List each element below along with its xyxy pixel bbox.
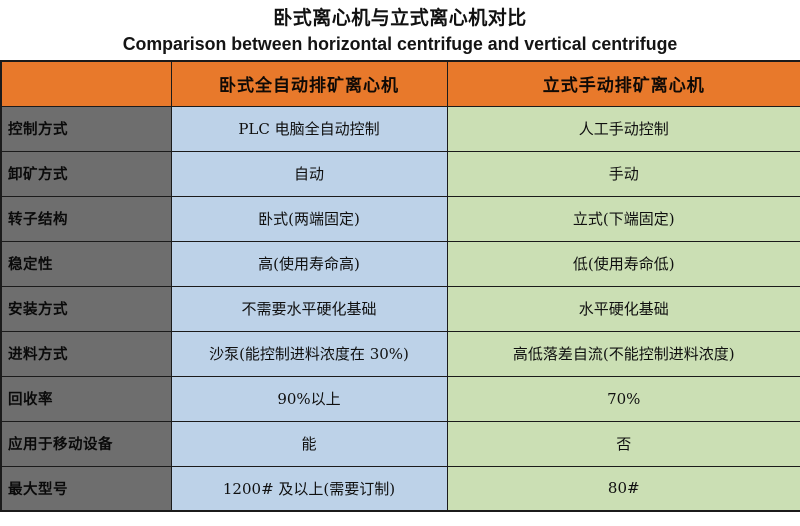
- cell-vertical-centrifuge: 80#: [447, 466, 800, 511]
- cell-vertical-centrifuge: 手动: [447, 151, 800, 196]
- cell-horizontal-centrifuge: 90%以上: [171, 376, 447, 421]
- cell-vertical-centrifuge: 低(使用寿命低): [447, 241, 800, 286]
- table-header: 卧式全自动排矿离心机 立式手动排矿离心机: [1, 61, 800, 106]
- cell-horizontal-centrifuge: 沙泵(能控制进料浓度在 30%): [171, 331, 447, 376]
- header-cell-vertical: 立式手动排矿离心机: [447, 61, 800, 106]
- row-label: 控制方式: [1, 106, 171, 151]
- table-row: 转子结构卧式(两端固定)立式(下端固定): [1, 196, 800, 241]
- table-row: 进料方式沙泵(能控制进料浓度在 30%)高低落差自流(不能控制进料浓度): [1, 331, 800, 376]
- cell-vertical-centrifuge: 立式(下端固定): [447, 196, 800, 241]
- cell-vertical-centrifuge: 水平硬化基础: [447, 286, 800, 331]
- row-label: 最大型号: [1, 466, 171, 511]
- table-row: 控制方式PLC 电脑全自动控制人工手动控制: [1, 106, 800, 151]
- cell-horizontal-centrifuge: PLC 电脑全自动控制: [171, 106, 447, 151]
- cell-horizontal-centrifuge: 能: [171, 421, 447, 466]
- table-row: 稳定性高(使用寿命高)低(使用寿命低): [1, 241, 800, 286]
- cell-vertical-centrifuge: 70%: [447, 376, 800, 421]
- row-label: 转子结构: [1, 196, 171, 241]
- cell-vertical-centrifuge: 人工手动控制: [447, 106, 800, 151]
- header-cell-blank: [1, 61, 171, 106]
- cell-horizontal-centrifuge: 卧式(两端固定): [171, 196, 447, 241]
- page-title-english: Comparison between horizontal centrifuge…: [16, 32, 784, 56]
- cell-vertical-centrifuge: 高低落差自流(不能控制进料浓度): [447, 331, 800, 376]
- cell-horizontal-centrifuge: 1200# 及以上(需要订制): [171, 466, 447, 511]
- table-header-row: 卧式全自动排矿离心机 立式手动排矿离心机: [1, 61, 800, 106]
- table-body: 控制方式PLC 电脑全自动控制人工手动控制卸矿方式自动手动转子结构卧式(两端固定…: [1, 106, 800, 511]
- page-title-chinese: 卧式离心机与立式离心机对比: [0, 6, 800, 30]
- row-label: 回收率: [1, 376, 171, 421]
- table-row: 应用于移动设备能否: [1, 421, 800, 466]
- row-label: 进料方式: [1, 331, 171, 376]
- title-block: 卧式离心机与立式离心机对比 Comparison between horizon…: [0, 0, 800, 56]
- row-label: 稳定性: [1, 241, 171, 286]
- cell-horizontal-centrifuge: 高(使用寿命高): [171, 241, 447, 286]
- comparison-page: 卧式离心机与立式离心机对比 Comparison between horizon…: [0, 0, 800, 526]
- table-row: 回收率90%以上70%: [1, 376, 800, 421]
- cell-horizontal-centrifuge: 自动: [171, 151, 447, 196]
- cell-horizontal-centrifuge: 不需要水平硬化基础: [171, 286, 447, 331]
- header-cell-horizontal: 卧式全自动排矿离心机: [171, 61, 447, 106]
- table-row: 最大型号1200# 及以上(需要订制)80#: [1, 466, 800, 511]
- row-label: 应用于移动设备: [1, 421, 171, 466]
- comparison-table: 卧式全自动排矿离心机 立式手动排矿离心机 控制方式PLC 电脑全自动控制人工手动…: [0, 60, 800, 512]
- cell-vertical-centrifuge: 否: [447, 421, 800, 466]
- table-row: 安装方式不需要水平硬化基础水平硬化基础: [1, 286, 800, 331]
- row-label: 安装方式: [1, 286, 171, 331]
- table-row: 卸矿方式自动手动: [1, 151, 800, 196]
- row-label: 卸矿方式: [1, 151, 171, 196]
